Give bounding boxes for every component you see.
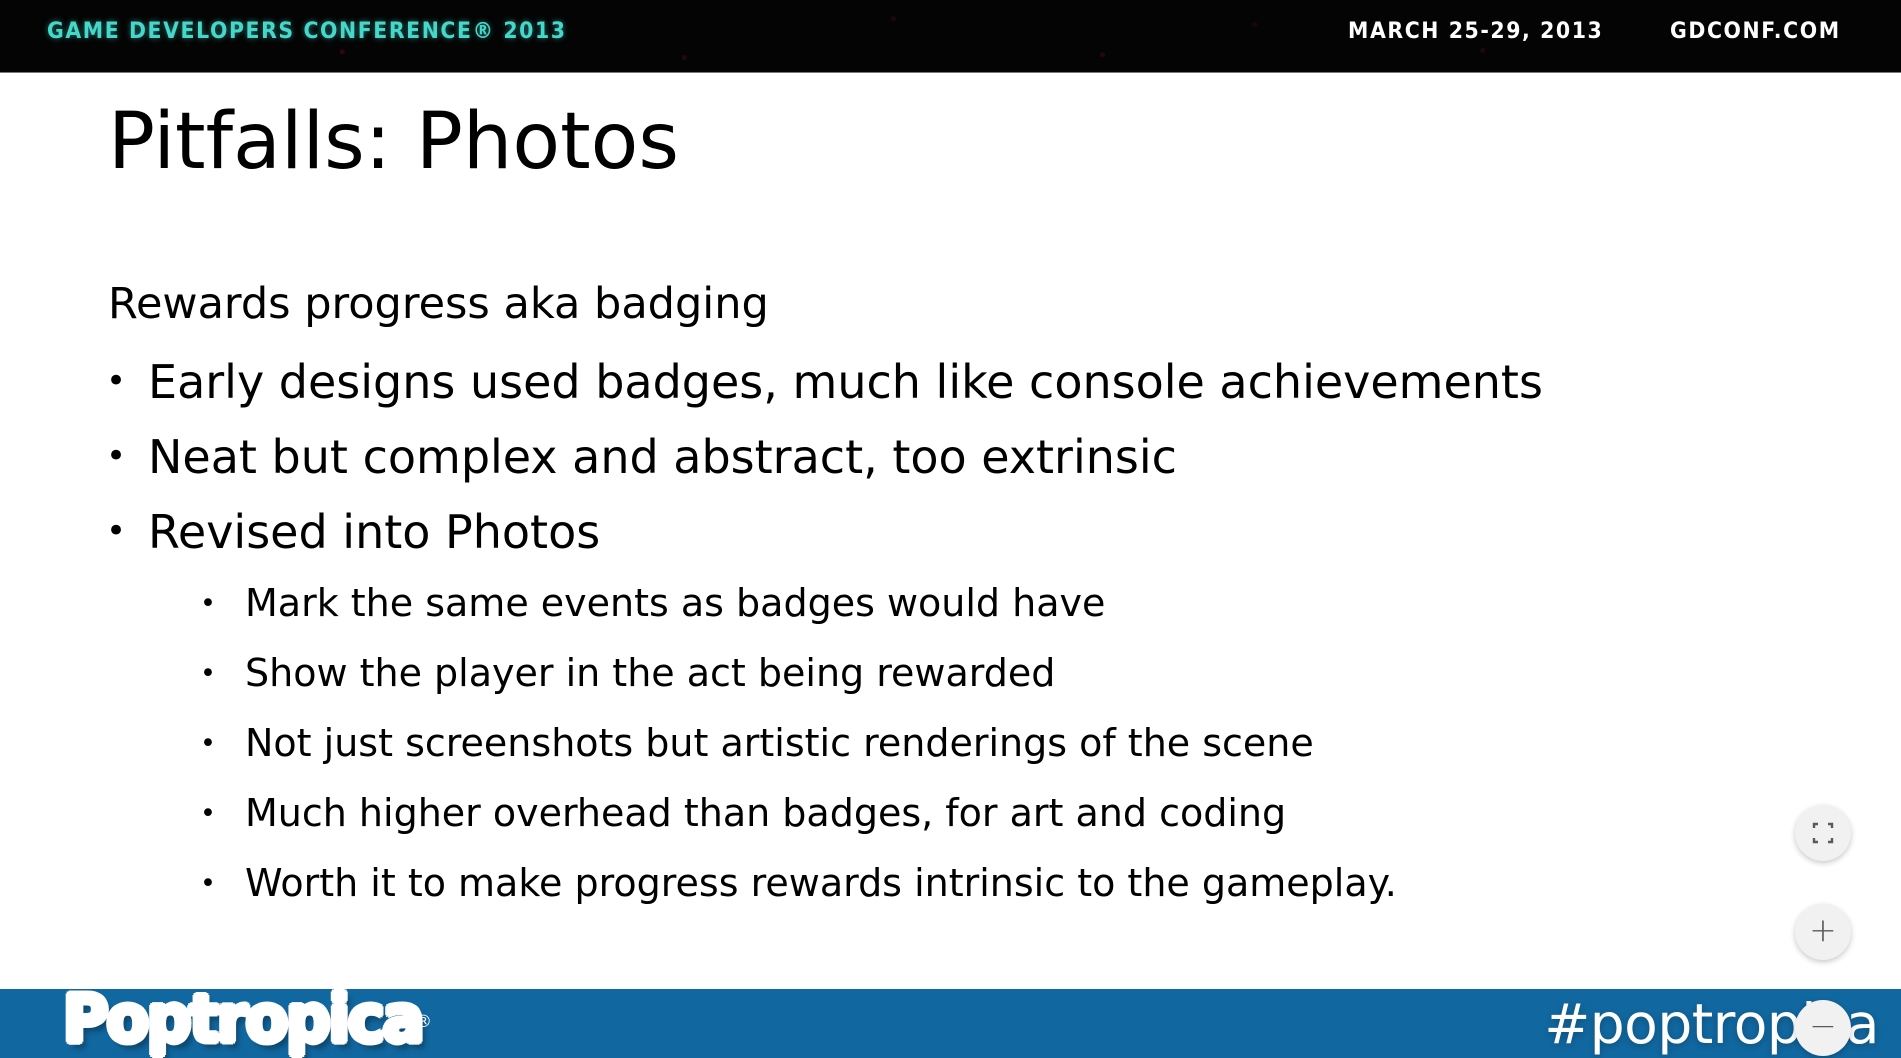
body-line-text: Rewards progress aka badging (108, 283, 769, 326)
bullet-item-text: Early designs used badges, much like con… (148, 359, 1543, 405)
bullet-dot-icon: • (200, 660, 245, 687)
body-line: Rewards progress aka badging (106, 283, 1846, 326)
sub-bullet-item: • Show the player in the act being rewar… (106, 654, 1846, 692)
bullet-item: • Revised into Photos (106, 509, 1846, 555)
bullet-dot-icon: • (200, 730, 245, 757)
sub-bullet-item-text: Mark the same events as badges would hav… (245, 584, 1105, 622)
bullet-dot-icon: • (200, 800, 245, 827)
plus-icon: + (1809, 913, 1837, 946)
bullet-item: • Early designs used badges, much like c… (106, 359, 1846, 405)
registered-trademark-icon: ® (415, 1012, 432, 1032)
sub-bullet-item: • Not just screenshots but artistic rend… (106, 724, 1846, 762)
sub-bullet-item: • Much higher overhead than badges, for … (106, 794, 1846, 832)
fit-to-screen-icon (1810, 820, 1836, 846)
gdc-brand-text: GAME DEVELOPERS CONFERENCE® 2013 (47, 19, 567, 44)
sub-bullet-item-text: Show the player in the act being rewarde… (245, 654, 1055, 692)
bullet-dot-icon: • (106, 439, 148, 473)
slide-body: Rewards progress aka badging • Early des… (106, 283, 1846, 934)
sub-bullet-item: • Mark the same events as badges would h… (106, 584, 1846, 622)
page-title: Pitfalls: Photos (108, 100, 679, 184)
bullet-dot-icon: • (106, 364, 148, 398)
zoom-in-button[interactable]: + (1795, 904, 1851, 960)
poptropica-footer-band: Poptropica ® #poptropica (0, 989, 1901, 1058)
poptropica-wordmark: Poptropica (63, 980, 422, 1057)
gdc-header-band: GAME DEVELOPERS CONFERENCE® 2013 MARCH 2… (0, 0, 1901, 73)
minus-icon: − (1809, 1009, 1837, 1042)
sub-bullet-item: • Worth it to make progress rewards intr… (106, 864, 1846, 902)
sub-bullet-item-text: Much higher overhead than badges, for ar… (245, 794, 1286, 832)
slide-root: GAME DEVELOPERS CONFERENCE® 2013 MARCH 2… (0, 0, 1901, 1058)
poptropica-logo: Poptropica ® (63, 972, 483, 1058)
bullet-item-text: Revised into Photos (148, 509, 600, 555)
bullet-dot-icon: • (200, 590, 245, 617)
bullet-item: • Neat but complex and abstract, too ext… (106, 434, 1846, 480)
fit-to-screen-button[interactable] (1795, 805, 1851, 861)
bullet-dot-icon: • (200, 870, 245, 897)
sub-bullet-item-text: Worth it to make progress rewards intrin… (245, 864, 1397, 902)
sub-bullet-item-text: Not just screenshots but artistic render… (245, 724, 1314, 762)
gdc-dates-text: MARCH 25-29, 2013 (1348, 19, 1603, 44)
bullet-dot-icon: • (106, 514, 148, 548)
bullet-item-text: Neat but complex and abstract, too extri… (148, 434, 1177, 480)
zoom-out-button[interactable]: − (1795, 1000, 1851, 1056)
gdc-url-text: GDCONF.COM (1670, 19, 1841, 44)
